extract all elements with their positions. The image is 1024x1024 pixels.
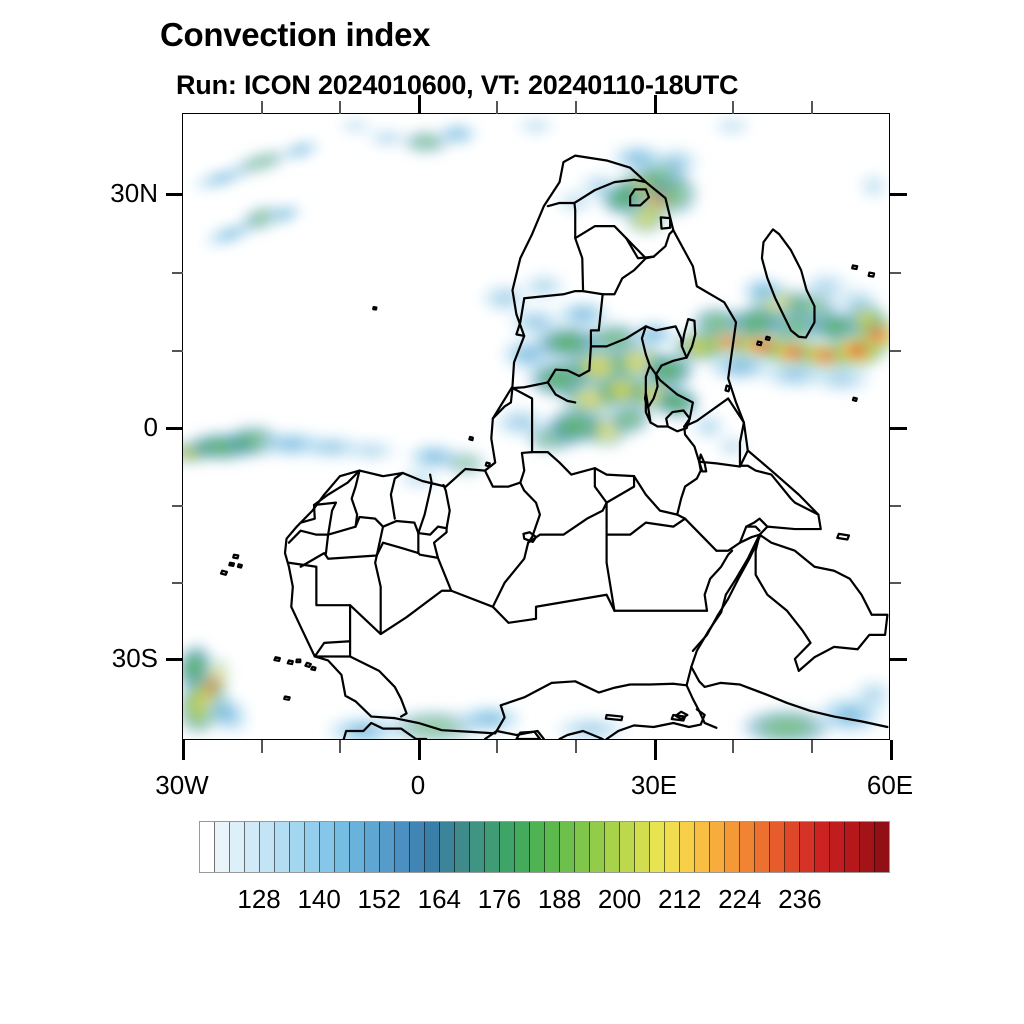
x-major-tick-0: [418, 740, 421, 760]
y-minor-tick-right-10n: [890, 350, 901, 352]
colorbar-cell: [590, 822, 605, 872]
y-major-tick-30n: [166, 193, 183, 196]
colorbar-cell: [620, 822, 635, 872]
convection-field: [183, 115, 889, 739]
x-axis-label-30e: 30E: [594, 770, 714, 801]
x-minor-tick-top-20w: [261, 101, 263, 114]
colorbar-cell: [755, 822, 770, 872]
x-minor-tick-top-10e: [496, 101, 498, 114]
y-axis-label-30s: 30S: [40, 643, 158, 674]
colorbar-cell: [725, 822, 740, 872]
x-minor-tick-20w: [261, 740, 263, 753]
colorbar-cell: [215, 822, 230, 872]
colorbar-cell: [365, 822, 380, 872]
colorbar-cell: [815, 822, 830, 872]
colorbar-cell: [545, 822, 560, 872]
colorbar-cell: [680, 822, 695, 872]
y-minor-tick-20s: [172, 582, 183, 584]
x-minor-tick-10w: [339, 740, 341, 753]
colorbar-cell: [845, 822, 860, 872]
colorbar-cell: [740, 822, 755, 872]
y-major-tick-30s: [166, 658, 183, 661]
colorbar-cell: [440, 822, 455, 872]
x-minor-tick-10e: [496, 740, 498, 753]
colorbar-cell: [560, 822, 575, 872]
x-minor-tick-20e: [575, 740, 577, 753]
colorbar-cell: [710, 822, 725, 872]
x-axis-label-60e: 60E: [830, 770, 950, 801]
map-plot-area[interactable]: [182, 113, 890, 740]
x-major-tick-top-30e: [654, 95, 657, 114]
colorbar-cell: [515, 822, 530, 872]
colorbar-cell: [635, 822, 650, 872]
y-axis-label-0: 0: [40, 412, 158, 443]
colorbar-cell: [245, 822, 260, 872]
colorbar-cell: [770, 822, 785, 872]
x-major-tick-30e: [654, 740, 657, 760]
y-major-tick-right-0: [890, 427, 907, 430]
colorbar-cell: [410, 822, 425, 872]
y-major-tick-right-30n: [890, 193, 907, 196]
colorbar-cell: [380, 822, 395, 872]
colorbar-cell: [605, 822, 620, 872]
x-major-tick-60e: [890, 740, 893, 760]
colorbar-cell: [830, 822, 845, 872]
x-minor-tick-40e: [732, 740, 734, 753]
colorbar-cell: [260, 822, 275, 872]
colorbar-cell: [335, 822, 350, 872]
colorbar-cell: [275, 822, 290, 872]
y-minor-tick-20n: [172, 272, 183, 274]
colorbar-cell: [425, 822, 440, 872]
colorbar-cell: [860, 822, 875, 872]
x-major-tick-top-0: [418, 95, 421, 114]
colorbar-cell: [470, 822, 485, 872]
colorbar-cell: [575, 822, 590, 872]
y-minor-tick-10n: [172, 350, 183, 352]
colorbar-cell: [485, 822, 500, 872]
colorbar-tick-label: 236: [765, 884, 835, 915]
y-minor-tick-10s: [172, 505, 183, 507]
colorbar[interactable]: [199, 821, 890, 873]
x-major-tick-30w: [182, 740, 185, 760]
y-axis-label-30n: 30N: [40, 178, 158, 209]
x-minor-tick-top-40e: [732, 101, 734, 114]
colorbar-cell: [650, 822, 665, 872]
y-minor-tick-right-10s: [890, 505, 901, 507]
colorbar-cell: [200, 822, 215, 872]
y-major-tick-0: [166, 427, 183, 430]
x-minor-tick-top-10w: [339, 101, 341, 114]
convection-index-map: [183, 114, 889, 739]
colorbar-cell: [395, 822, 410, 872]
colorbar-cell: [500, 822, 515, 872]
colorbar-cell: [785, 822, 800, 872]
colorbar-cell: [305, 822, 320, 872]
x-minor-tick-top-50e: [811, 101, 813, 114]
colorbar-cell: [290, 822, 305, 872]
page-title: Convection index: [160, 16, 430, 54]
x-minor-tick-top-20e: [575, 101, 577, 114]
y-major-tick-right-30s: [890, 658, 907, 661]
colorbar-cell: [800, 822, 815, 872]
x-axis-label-30w: 30W: [122, 770, 242, 801]
colorbar-cell: [665, 822, 680, 872]
y-minor-tick-right-20n: [890, 272, 901, 274]
colorbar-cell: [350, 822, 365, 872]
x-minor-tick-50e: [811, 740, 813, 753]
colorbar-cell: [230, 822, 245, 872]
colorbar-cell: [875, 822, 889, 872]
y-minor-tick-right-20s: [890, 582, 901, 584]
x-axis-label-0: 0: [358, 770, 478, 801]
colorbar-cell: [320, 822, 335, 872]
colorbar-cell: [530, 822, 545, 872]
colorbar-cell: [455, 822, 470, 872]
colorbar-cell: [695, 822, 710, 872]
